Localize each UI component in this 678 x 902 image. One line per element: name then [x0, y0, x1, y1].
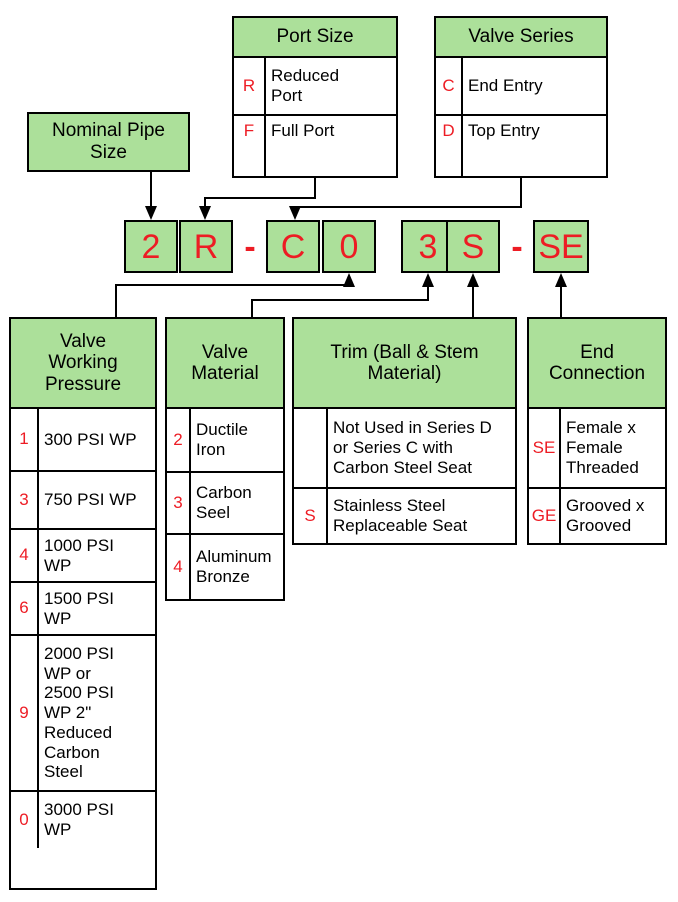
legend-valve-material-title: Valve Material — [167, 319, 283, 409]
row-code: R — [234, 58, 266, 114]
connector-trim — [0, 273, 678, 323]
chip-valve-working-pressure[interactable]: 0 — [322, 220, 376, 273]
table-row: 9 2000 PSI WP or 2500 PSI WP 2" Reduced … — [11, 636, 155, 792]
row-code: SE — [529, 409, 561, 487]
row-desc: 3000 PSI WP — [39, 792, 155, 848]
row-desc: Grooved x Grooved — [561, 489, 665, 543]
chip-trim[interactable]: S — [446, 220, 500, 273]
row-desc: Top Entry — [463, 116, 606, 176]
legend-valve-material: Valve Material 2 Ductile Iron 3 Carbon S… — [165, 317, 285, 601]
row-code: 1 — [11, 409, 39, 470]
legend-trim: Trim (Ball & Stem Material) Not Used in … — [292, 317, 517, 545]
row-code: 4 — [11, 530, 39, 581]
row-desc: 2000 PSI WP or 2500 PSI WP 2" Reduced Ca… — [39, 636, 155, 790]
row-code: 2 — [167, 409, 191, 471]
row-desc: Ductile Iron — [191, 409, 283, 471]
separator-dash-2: - — [502, 220, 532, 273]
separator-dash-1: - — [235, 220, 265, 273]
row-desc: Aluminum Bronze — [191, 535, 283, 599]
legend-nominal-pipe-size: Nominal Pipe Size — [27, 112, 190, 172]
table-row: GE Grooved x Grooved — [529, 489, 665, 543]
connector-valve-working-pressure — [0, 273, 678, 323]
table-row: R Reduced Port — [234, 58, 396, 116]
row-code: 3 — [11, 472, 39, 528]
table-row: 6 1500 PSI WP — [11, 583, 155, 636]
row-code: C — [436, 58, 463, 114]
table-row: Not Used in Series D or Series C with Ca… — [294, 409, 515, 489]
row-code: 4 — [167, 535, 191, 599]
row-desc: 300 PSI WP — [39, 409, 155, 470]
chip-nominal-pipe-size[interactable]: 2 — [124, 220, 178, 273]
chip-port-size[interactable]: R — [179, 220, 233, 273]
table-row: 4 1000 PSI WP — [11, 530, 155, 583]
legend-valve-series-title: Valve Series — [436, 18, 606, 58]
table-row: S Stainless Steel Replaceable Seat — [294, 489, 515, 543]
row-desc: Not Used in Series D or Series C with Ca… — [328, 409, 515, 487]
chip-valve-series[interactable]: C — [266, 220, 320, 273]
legend-port-size-title: Port Size — [234, 18, 396, 58]
nomenclature-diagram: Port Size R Reduced Port F Full Port Val… — [0, 0, 678, 902]
row-desc: Carbon Seel — [191, 473, 283, 533]
table-row: 1 300 PSI WP — [11, 409, 155, 472]
row-desc: Stainless Steel Replaceable Seat — [328, 489, 515, 543]
legend-valve-working-pressure-title: Valve Working Pressure — [11, 319, 155, 409]
chip-end-connection[interactable]: SE — [533, 220, 589, 273]
connector-port-size — [0, 178, 678, 226]
row-desc: Full Port — [266, 116, 396, 176]
row-desc: Female x Female Threaded — [561, 409, 665, 487]
legend-port-size: Port Size R Reduced Port F Full Port — [232, 16, 398, 178]
row-code: GE — [529, 489, 561, 543]
row-code: F — [234, 116, 266, 176]
connector-nominal-pipe-size — [0, 170, 678, 225]
row-code: 3 — [167, 473, 191, 533]
row-desc: End Entry — [463, 58, 606, 114]
row-desc: 1500 PSI WP — [39, 583, 155, 634]
table-row: 4 Aluminum Bronze — [167, 535, 283, 599]
row-code: 6 — [11, 583, 39, 634]
table-row: 2 Ductile Iron — [167, 409, 283, 473]
table-row: D Top Entry — [436, 116, 606, 176]
row-desc: 1000 PSI WP — [39, 530, 155, 581]
row-code: D — [436, 116, 463, 176]
table-row: 3 Carbon Seel — [167, 473, 283, 535]
legend-end-connection-title: End Connection — [529, 319, 665, 409]
row-code: 9 — [11, 636, 39, 790]
row-code: S — [294, 489, 328, 543]
row-code: 0 — [11, 792, 39, 848]
row-desc: 750 PSI WP — [39, 472, 155, 528]
row-desc: Reduced Port — [266, 58, 396, 114]
table-row: SE Female x Female Threaded — [529, 409, 665, 489]
table-row: 0 3000 PSI WP — [11, 792, 155, 848]
table-row: 3 750 PSI WP — [11, 472, 155, 530]
connector-valve-series — [0, 178, 678, 226]
legend-trim-title: Trim (Ball & Stem Material) — [294, 319, 515, 409]
row-code — [294, 409, 328, 487]
connector-valve-material — [0, 273, 678, 323]
table-row: F Full Port — [234, 116, 396, 176]
legend-end-connection: End Connection SE Female x Female Thread… — [527, 317, 667, 545]
legend-valve-working-pressure: Valve Working Pressure 1 300 PSI WP 3 75… — [9, 317, 157, 890]
table-row: C End Entry — [436, 58, 606, 116]
connector-end-connection — [0, 273, 678, 323]
legend-valve-series: Valve Series C End Entry D Top Entry — [434, 16, 608, 178]
